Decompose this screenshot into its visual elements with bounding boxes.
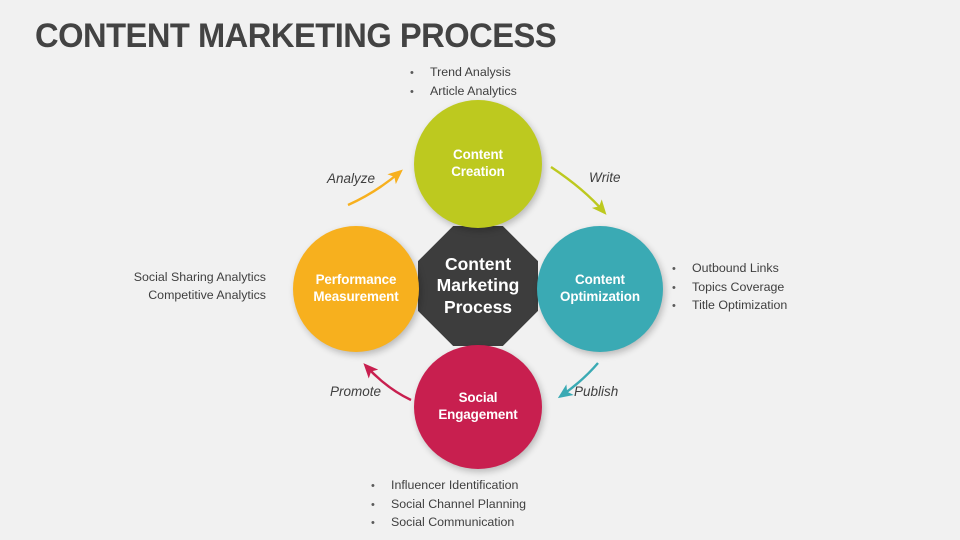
center-hub-line-1: Content — [437, 254, 520, 275]
list-item: • Title Optimization — [672, 297, 787, 316]
node-social-engagement[interactable]: Social Engagement — [414, 345, 542, 469]
center-hub-line-3: Process — [437, 297, 520, 318]
list-item: • Topics Coverage — [672, 279, 787, 298]
bullet-list-content-creation: • Trend Analysis • Article Analytics — [410, 64, 517, 101]
node-content-optimization-label: Content Optimization — [560, 272, 640, 306]
bullet-list-content-optimization: • Outbound Links • Topics Coverage • Tit… — [672, 260, 787, 316]
arrow-label-write: Write — [589, 170, 621, 185]
list-item: • Influencer Identification — [371, 477, 526, 496]
arrow-label-promote: Promote — [330, 384, 381, 399]
list-item-label: Trend Analysis — [430, 64, 511, 82]
bullet-icon: • — [672, 280, 692, 298]
list-item: • Article Analytics — [410, 83, 517, 102]
list-item-label: Social Sharing Analytics — [134, 270, 266, 284]
node-content-optimization[interactable]: Content Optimization — [537, 226, 663, 352]
page-title: CONTENT MARKETING PROCESS — [35, 17, 556, 56]
arrow-label-analyze: Analyze — [327, 171, 375, 186]
bullet-icon: • — [371, 497, 391, 515]
node-content-creation-line-1: Content — [451, 147, 505, 164]
center-hub-label: Content Marketing Process — [437, 254, 520, 318]
list-item: • Trend Analysis — [410, 64, 517, 83]
node-content-creation-line-2: Creation — [451, 164, 505, 181]
node-content-creation-label: Content Creation — [451, 147, 505, 181]
bullet-icon: • — [371, 515, 391, 533]
list-item-label: Article Analytics — [430, 83, 517, 101]
bullet-icon: • — [371, 478, 391, 496]
node-performance-measurement-line-1: Performance — [313, 272, 398, 289]
list-item-label: Title Optimization — [692, 297, 787, 315]
list-item-label: Outbound Links — [692, 260, 779, 278]
node-social-engagement-line-2: Engagement — [438, 407, 517, 424]
list-item: Competitive Analytics — [96, 287, 266, 305]
slide-canvas: CONTENT MARKETING PROCESS — [0, 0, 960, 540]
list-item-label: Social Communication — [391, 514, 514, 532]
node-performance-measurement-line-2: Measurement — [313, 289, 398, 306]
list-item: • Outbound Links — [672, 260, 787, 279]
node-social-engagement-label: Social Engagement — [438, 390, 517, 424]
arrow-label-publish: Publish — [574, 384, 618, 399]
list-item-label: Social Channel Planning — [391, 496, 526, 514]
bullet-icon: • — [410, 65, 430, 83]
node-performance-measurement-label: Performance Measurement — [313, 272, 398, 306]
list-item: • Social Channel Planning — [371, 496, 526, 515]
list-item-label: Competitive Analytics — [148, 288, 266, 302]
list-item-label: Topics Coverage — [692, 279, 784, 297]
center-hub[interactable]: Content Marketing Process — [418, 226, 538, 346]
list-item-label: Influencer Identification — [391, 477, 518, 495]
bullet-list-social-engagement: • Influencer Identification • Social Cha… — [371, 477, 526, 533]
list-item: Social Sharing Analytics — [96, 269, 266, 287]
node-content-optimization-line-1: Content — [560, 272, 640, 289]
node-social-engagement-line-1: Social — [438, 390, 517, 407]
list-item: • Social Communication — [371, 514, 526, 533]
center-hub-line-2: Marketing — [437, 275, 520, 296]
bullet-list-performance-measurement: Social Sharing Analytics Competitive Ana… — [96, 269, 266, 304]
bullet-icon: • — [672, 298, 692, 316]
bullet-icon: • — [410, 84, 430, 102]
node-performance-measurement[interactable]: Performance Measurement — [293, 226, 419, 352]
bullet-icon: • — [672, 261, 692, 279]
node-content-creation[interactable]: Content Creation — [414, 100, 542, 228]
node-content-optimization-line-2: Optimization — [560, 289, 640, 306]
